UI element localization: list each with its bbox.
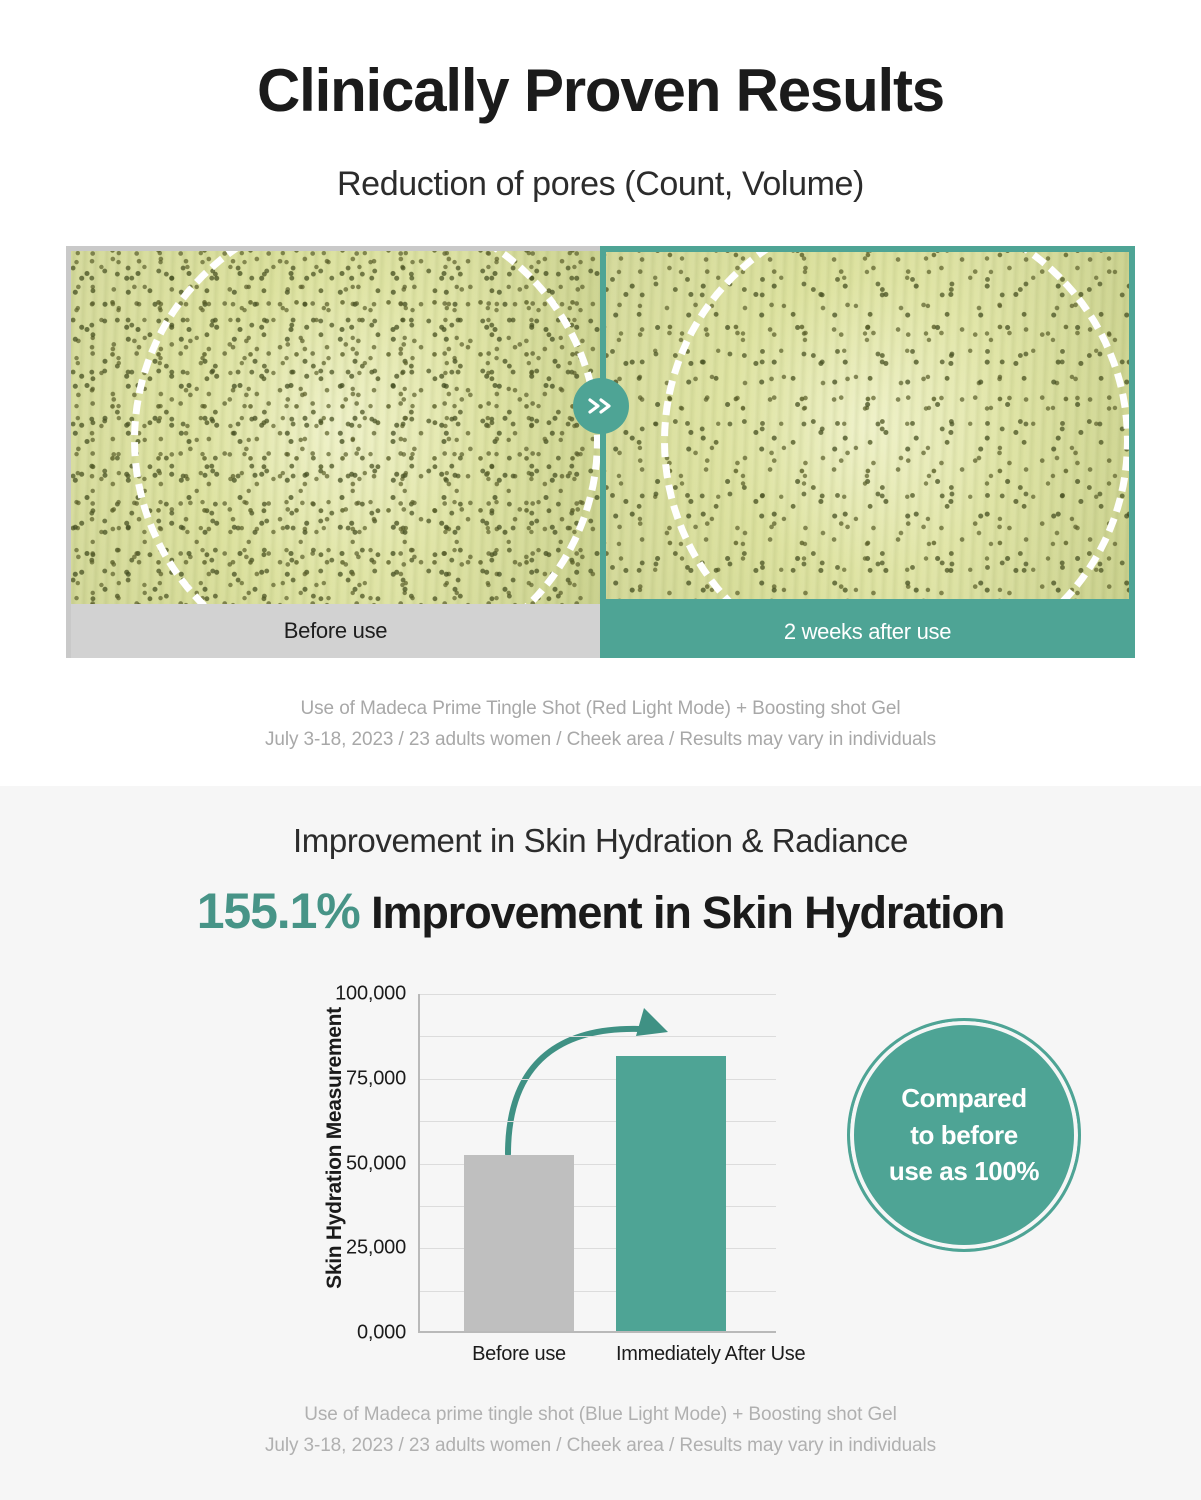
page-title: Clinically Proven Results [0,58,1201,124]
hydration-bar-chart: Skin Hydration Measurement 0,00025,00050… [245,986,805,1386]
chart-bar [464,1155,574,1331]
before-caption-bar: Before use [71,604,600,658]
chart-y-tick-label: 75,000 [346,1067,406,1090]
chart-y-tick-label: 100,000 [335,983,406,1006]
comparison-badge: Compared to before use as 100% [847,1018,1081,1252]
before-label: Before use [284,618,387,644]
hydration-headline: 155.1% Improvement in Skin Hydration [0,882,1201,940]
badge-line-2: to before [889,1117,1039,1154]
chart-plot-area: 0,00025,00050,00075,000100,000Before use… [418,994,776,1333]
chart-x-tick-label: Before use [464,1343,574,1366]
top-study-note: Use of Madeca Prime Tingle Shot (Red Lig… [0,694,1201,756]
chart-gridline [420,1036,776,1037]
chart-y-tick-label: 0,000 [357,1322,406,1345]
after-skin-photo [606,252,1129,599]
clinical-results-section: Clinically Proven Results Reduction of p… [0,0,1201,786]
hydration-headline-rest: Improvement in Skin Hydration [360,887,1005,938]
chart-y-tick-label: 50,000 [346,1152,406,1175]
chart-y-axis-title: Skin Hydration Measurement [323,988,347,1308]
bottom-note-line-1: Use of Madeca prime tingle shot (Blue Li… [0,1400,1201,1431]
before-pane: Before use [66,246,600,658]
top-note-line-1: Use of Madeca Prime Tingle Shot (Red Lig… [0,694,1201,725]
dashed-highlight-circle [131,251,600,604]
chart-bar [616,1056,726,1331]
double-chevron-right-icon [573,378,629,434]
before-skin-photo [71,251,600,604]
hydration-percent-value: 155.1% [197,883,360,939]
chart-y-tick-label: 25,000 [346,1237,406,1260]
hydration-section-title: Improvement in Skin Hydration & Radiance [0,822,1201,860]
bottom-study-note: Use of Madeca prime tingle shot (Blue Li… [0,1400,1201,1462]
dashed-highlight-circle [661,252,1129,599]
bottom-note-line-2: July 3-18, 2023 / 23 adults women / Chee… [0,1431,1201,1462]
badge-line-3: use as 100% [889,1153,1039,1190]
after-caption-bar: 2 weeks after use [600,605,1135,658]
after-pane: 2 weeks after use [600,246,1135,658]
chart-gridline [420,994,776,995]
after-label: 2 weeks after use [784,619,951,645]
infographic-page: Clinically Proven Results Reduction of p… [0,0,1201,1500]
top-note-line-2: July 3-18, 2023 / 23 adults women / Chee… [0,725,1201,756]
before-after-comparison: Before use 2 weeks after use [66,246,1135,658]
badge-line-1: Compared [889,1080,1039,1117]
chart-x-tick-label: Immediately After Use [616,1343,726,1366]
page-subtitle: Reduction of pores (Count, Volume) [0,165,1201,204]
